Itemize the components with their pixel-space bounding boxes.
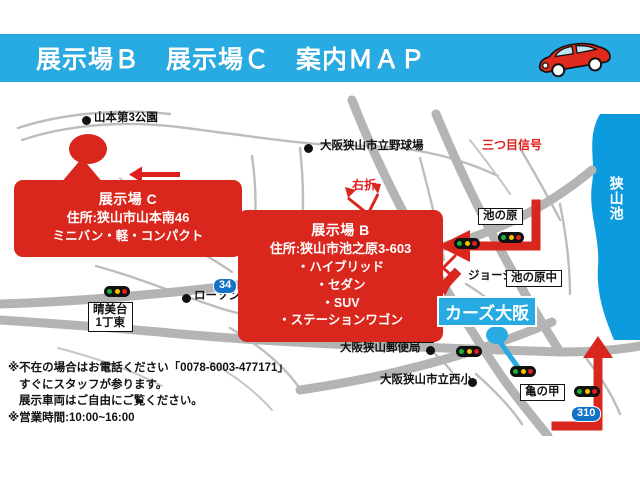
- traffic-signal-iwamuro-east: [510, 366, 536, 377]
- note-line-2: すぐにスタッフが参ります。: [8, 377, 289, 394]
- intersection-kamenoko: 亀の甲: [520, 384, 565, 401]
- showroom-c-name: 展示場 C: [20, 189, 236, 209]
- showroom-b-vehicle-3: ・SUV: [244, 295, 437, 313]
- showroom-b-address: 住所:狭山市池之原3-603: [244, 240, 437, 259]
- poi-label-nishi-elementary: 大阪狭山市立西小: [380, 374, 472, 387]
- traffic-signal-iwamurohigashi: [456, 346, 482, 357]
- route-shield-310: 310: [571, 406, 601, 422]
- poi-dot-yamamoto-park: [82, 116, 91, 125]
- lake-shape: [591, 114, 640, 340]
- intersection-harumidai-line2: 1丁東: [93, 317, 128, 330]
- poi-dot-lawson: [182, 294, 191, 303]
- showroom-b-box[interactable]: 展示場 B 住所:狭山市池之原3-603 ・ハイブリッド ・セダン ・SUV ・…: [238, 210, 443, 342]
- footer-notes: ※不在の場合はお電話ください「0078-6003-477171」 すぐにスタッフ…: [8, 360, 289, 427]
- poi-label-baseball-stadium: 大阪狭山市立野球場: [320, 140, 424, 153]
- letterbox-bottom: [0, 436, 640, 480]
- shop-marker-dot: [486, 326, 508, 344]
- traffic-signal-ikenohara: [498, 232, 524, 243]
- intersection-harumidai: 晴美台 1丁東: [88, 302, 133, 332]
- note-line-3: 展示車両はご自由にご覧ください。: [8, 393, 289, 410]
- showroom-c-box[interactable]: 展示場 C 住所:狭山市山本南46 ミニバン・軽・コンパクト: [14, 180, 242, 257]
- poi-dot-baseball-stadium: [304, 144, 313, 153]
- shop-label[interactable]: カーズ大阪: [437, 296, 537, 327]
- annotation-turn-right: 右折: [352, 176, 376, 193]
- showroom-b-vehicle-2: ・セダン: [244, 277, 437, 295]
- poi-label-yamamoto-park: 山本第3公園: [94, 112, 158, 125]
- lake-label: 狭山池: [608, 176, 624, 221]
- intersection-ikenohara: 池の原: [478, 208, 523, 225]
- red-car-icon: [532, 39, 616, 79]
- letterbox-top: [0, 0, 640, 28]
- traffic-signal-ikenohara-west: [454, 238, 480, 249]
- header-banner: 展示場Ｂ 展示場Ｃ 案内ＭＡＰ: [0, 34, 640, 82]
- intersection-harumidai-line1: 晴美台: [93, 304, 128, 317]
- showroom-c-vehicles: ミニバン・軽・コンパクト: [20, 228, 236, 246]
- intersection-ikenoharanaka: 池の原中: [506, 270, 562, 287]
- poi-dot-post-office: [426, 346, 435, 355]
- showroom-b-vehicle-4: ・ステーションワゴン: [244, 312, 437, 330]
- traffic-signal-kamenoko: [574, 386, 600, 397]
- showroom-b-name: 展示場 B: [244, 220, 437, 240]
- note-line-4: ※営業時間:10:00~16:00: [8, 410, 289, 427]
- annotation-third-signal: 三つ目信号: [482, 136, 542, 153]
- showroom-c-address: 住所:狭山市山本南46: [20, 209, 236, 228]
- note-line-1: ※不在の場合はお電話ください「0078-6003-477171」: [8, 360, 289, 377]
- map-poster: 山本第3公園 大阪狭山市立野球場 ローソン ジョーシン 大阪狭山郵便局 大阪狭山…: [0, 0, 640, 480]
- traffic-signal-harumidai: [104, 286, 130, 297]
- route-shield-34: 34: [213, 278, 237, 294]
- showroom-b-vehicle-1: ・ハイブリッド: [244, 259, 437, 277]
- poi-label-post-office: 大阪狭山郵便局: [340, 342, 421, 355]
- page-title: 展示場Ｂ 展示場Ｃ 案内ＭＡＰ: [36, 40, 426, 76]
